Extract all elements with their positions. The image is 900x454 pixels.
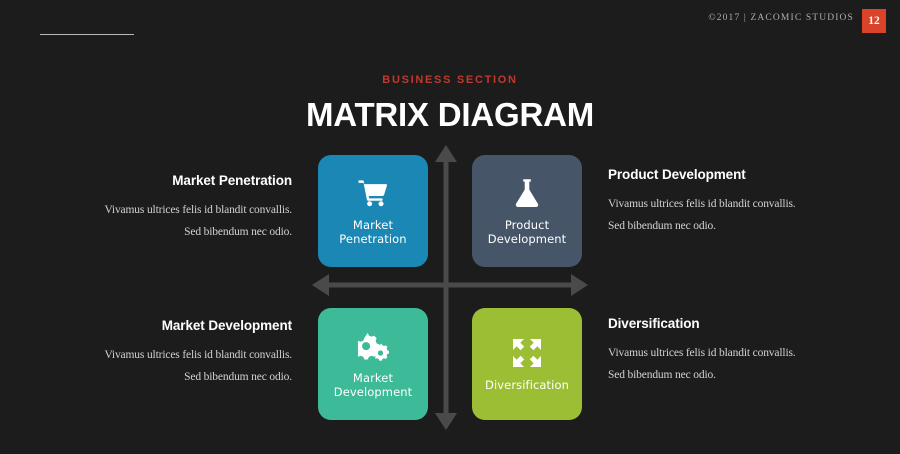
description-line: Vivamus ultrices felis id blandit conval… (42, 199, 292, 221)
flask-icon (510, 176, 544, 210)
description-line: Vivamus ultrices felis id blandit conval… (608, 342, 858, 364)
header-accent-rule (40, 34, 134, 35)
horizontal-axis-arrow (312, 273, 588, 297)
quadrant-market-penetration[interactable]: Market Penetration (318, 155, 428, 267)
description-line: Sed bibendum nec odio. (42, 366, 292, 388)
description-line: Sed bibendum nec odio. (608, 215, 858, 237)
description-diversification: Diversification Vivamus ultrices felis i… (608, 316, 858, 386)
description-line: Sed bibendum nec odio. (42, 221, 292, 243)
quadrant-label: Product Development (488, 218, 567, 246)
page-title: MATRIX DIAGRAM (0, 96, 900, 134)
description-title: Market Penetration (42, 173, 292, 188)
page-number-badge: 12 (862, 9, 886, 33)
quadrant-label: Market Penetration (339, 218, 406, 246)
description-line: Vivamus ultrices felis id blandit conval… (42, 344, 292, 366)
gears-icon (356, 329, 390, 363)
description-title: Product Development (608, 167, 858, 182)
quadrant-market-development[interactable]: Market Development (318, 308, 428, 420)
vertical-axis-arrow (434, 145, 458, 430)
description-market-penetration: Market Penetration Vivamus ultrices feli… (42, 173, 292, 243)
description-market-development: Market Development Vivamus ultrices feli… (42, 318, 292, 388)
description-line: Sed bibendum nec odio. (608, 364, 858, 386)
quadrant-label: Market Development (334, 371, 413, 399)
quadrant-product-development[interactable]: Product Development (472, 155, 582, 267)
description-line: Vivamus ultrices felis id blandit conval… (608, 193, 858, 215)
description-title: Diversification (608, 316, 858, 331)
expand-arrows-icon (510, 336, 544, 370)
description-product-development: Product Development Vivamus ultrices fel… (608, 167, 858, 237)
matrix-diagram: Market Penetration Product Development M… (318, 155, 582, 420)
quadrant-diversification[interactable]: Diversification (472, 308, 582, 420)
section-eyebrow: BUSINESS SECTION (0, 74, 900, 86)
description-title: Market Development (42, 318, 292, 333)
quadrant-label: Diversification (485, 378, 569, 392)
shopping-cart-icon (356, 176, 390, 210)
copyright-credit: ©2017 | ZACOMIC STUDIOS (708, 13, 854, 23)
